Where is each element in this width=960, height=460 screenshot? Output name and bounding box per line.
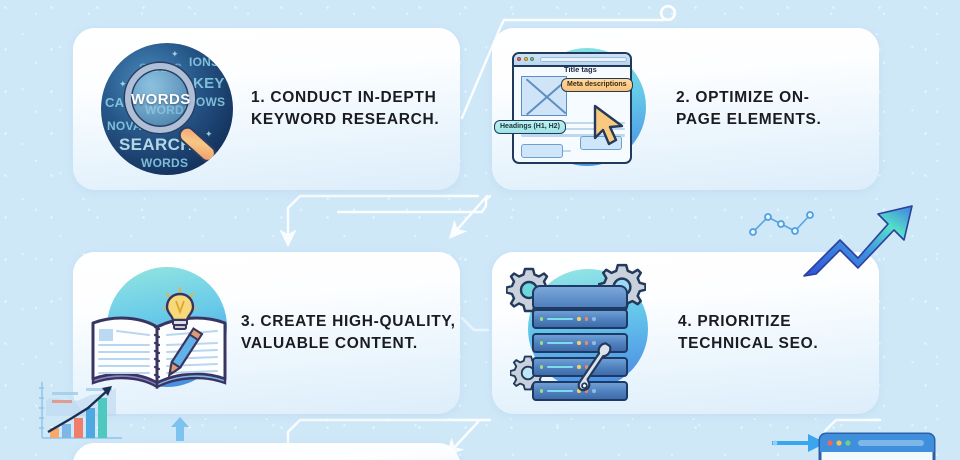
step-4-label: 4. PRIORITIZE TECHNICAL SEO. <box>678 311 818 355</box>
sparkle-icon: ✦ <box>171 49 179 60</box>
step-1-label: 1. CONDUCT IN-DEPTH KEYWORD RESEARCH. <box>251 87 439 131</box>
infographic-canvas: SEARC IONS KEY HOWS CAN NOVA SEARCH WORD… <box>0 0 960 460</box>
step-1-line-1: 1. CONDUCT IN-DEPTH <box>251 87 439 109</box>
content-block <box>521 144 563 158</box>
meta-descriptions-badge: Meta descriptions <box>561 78 633 92</box>
image-placeholder <box>521 76 567 116</box>
step-2-line-1: 2. OPTIMIZE ON- <box>676 87 822 109</box>
step-card-4[interactable]: 4. PRIORITIZE TECHNICAL SEO. <box>492 252 879 414</box>
step-3-line-2: VALUABLE CONTENT. <box>241 333 456 355</box>
minimize-dot-icon <box>524 57 528 61</box>
step-3-label: 3. CREATE HIGH-QUALITY, VALUABLE CONTENT… <box>241 311 456 355</box>
right-arrow-icon <box>772 432 828 454</box>
step-4-line-2: TECHNICAL SEO. <box>678 333 818 355</box>
connector-step3-to-step4 <box>462 318 488 330</box>
browser-on-page-icon: Title tags Meta descriptions Headings (H… <box>506 42 656 177</box>
headings-badge: Headings (H1, H2) <box>494 120 566 134</box>
connector-step1-diagonal-arrow <box>455 196 487 232</box>
keyword-text: KEY <box>193 75 225 92</box>
step-2-label: 2. OPTIMIZE ON- PAGE ELEMENTS. <box>676 87 822 131</box>
step-1-line-2: KEYWORD RESEARCH. <box>251 109 439 131</box>
keyword-text: IONS <box>189 55 219 69</box>
step-card-2[interactable]: Title tags Meta descriptions Headings (H… <box>492 28 879 190</box>
line-chart-nodes-icon <box>748 206 818 240</box>
server-rack-unit <box>532 309 628 329</box>
step-4-line-1: 4. PRIORITIZE <box>678 311 818 333</box>
server-gears-wrench-icon <box>506 263 656 403</box>
keyword-text: WORDS <box>141 156 188 170</box>
magnifier-lens: WORDS <box>125 63 195 133</box>
step-card-5-partial[interactable] <box>73 443 460 460</box>
close-dot-icon <box>517 57 521 61</box>
sparkle-icon: ✦ <box>205 129 213 140</box>
connector-step2-to-step3 <box>288 196 490 238</box>
open-book-lightbulb-pen-icon <box>83 263 233 403</box>
connector-endpoint-circle <box>661 6 675 20</box>
keyword-sphere: SEARC IONS KEY HOWS CAN NOVA SEARCH WORD… <box>101 43 233 175</box>
step-2-line-2: PAGE ELEMENTS. <box>676 109 822 131</box>
maximize-dot-icon <box>530 57 534 61</box>
open-book-icon <box>89 311 229 389</box>
title-tags-label: Title tags <box>564 65 597 74</box>
lens-word: WORDS <box>131 91 189 108</box>
url-bar <box>540 57 628 62</box>
up-arrow-icon <box>170 416 190 442</box>
step-card-3[interactable]: 3. CREATE HIGH-QUALITY, VALUABLE CONTENT… <box>73 252 460 414</box>
server-rack-top <box>532 285 628 309</box>
magnifying-glass-keywords-icon: SEARC IONS KEY HOWS CAN NOVA SEARCH WORD… <box>95 39 235 179</box>
step-3-line-1: 3. CREATE HIGH-QUALITY, <box>241 311 456 333</box>
mini-browser-icon <box>818 432 936 460</box>
step-card-1[interactable]: SEARC IONS KEY HOWS CAN NOVA SEARCH WORD… <box>73 28 460 190</box>
